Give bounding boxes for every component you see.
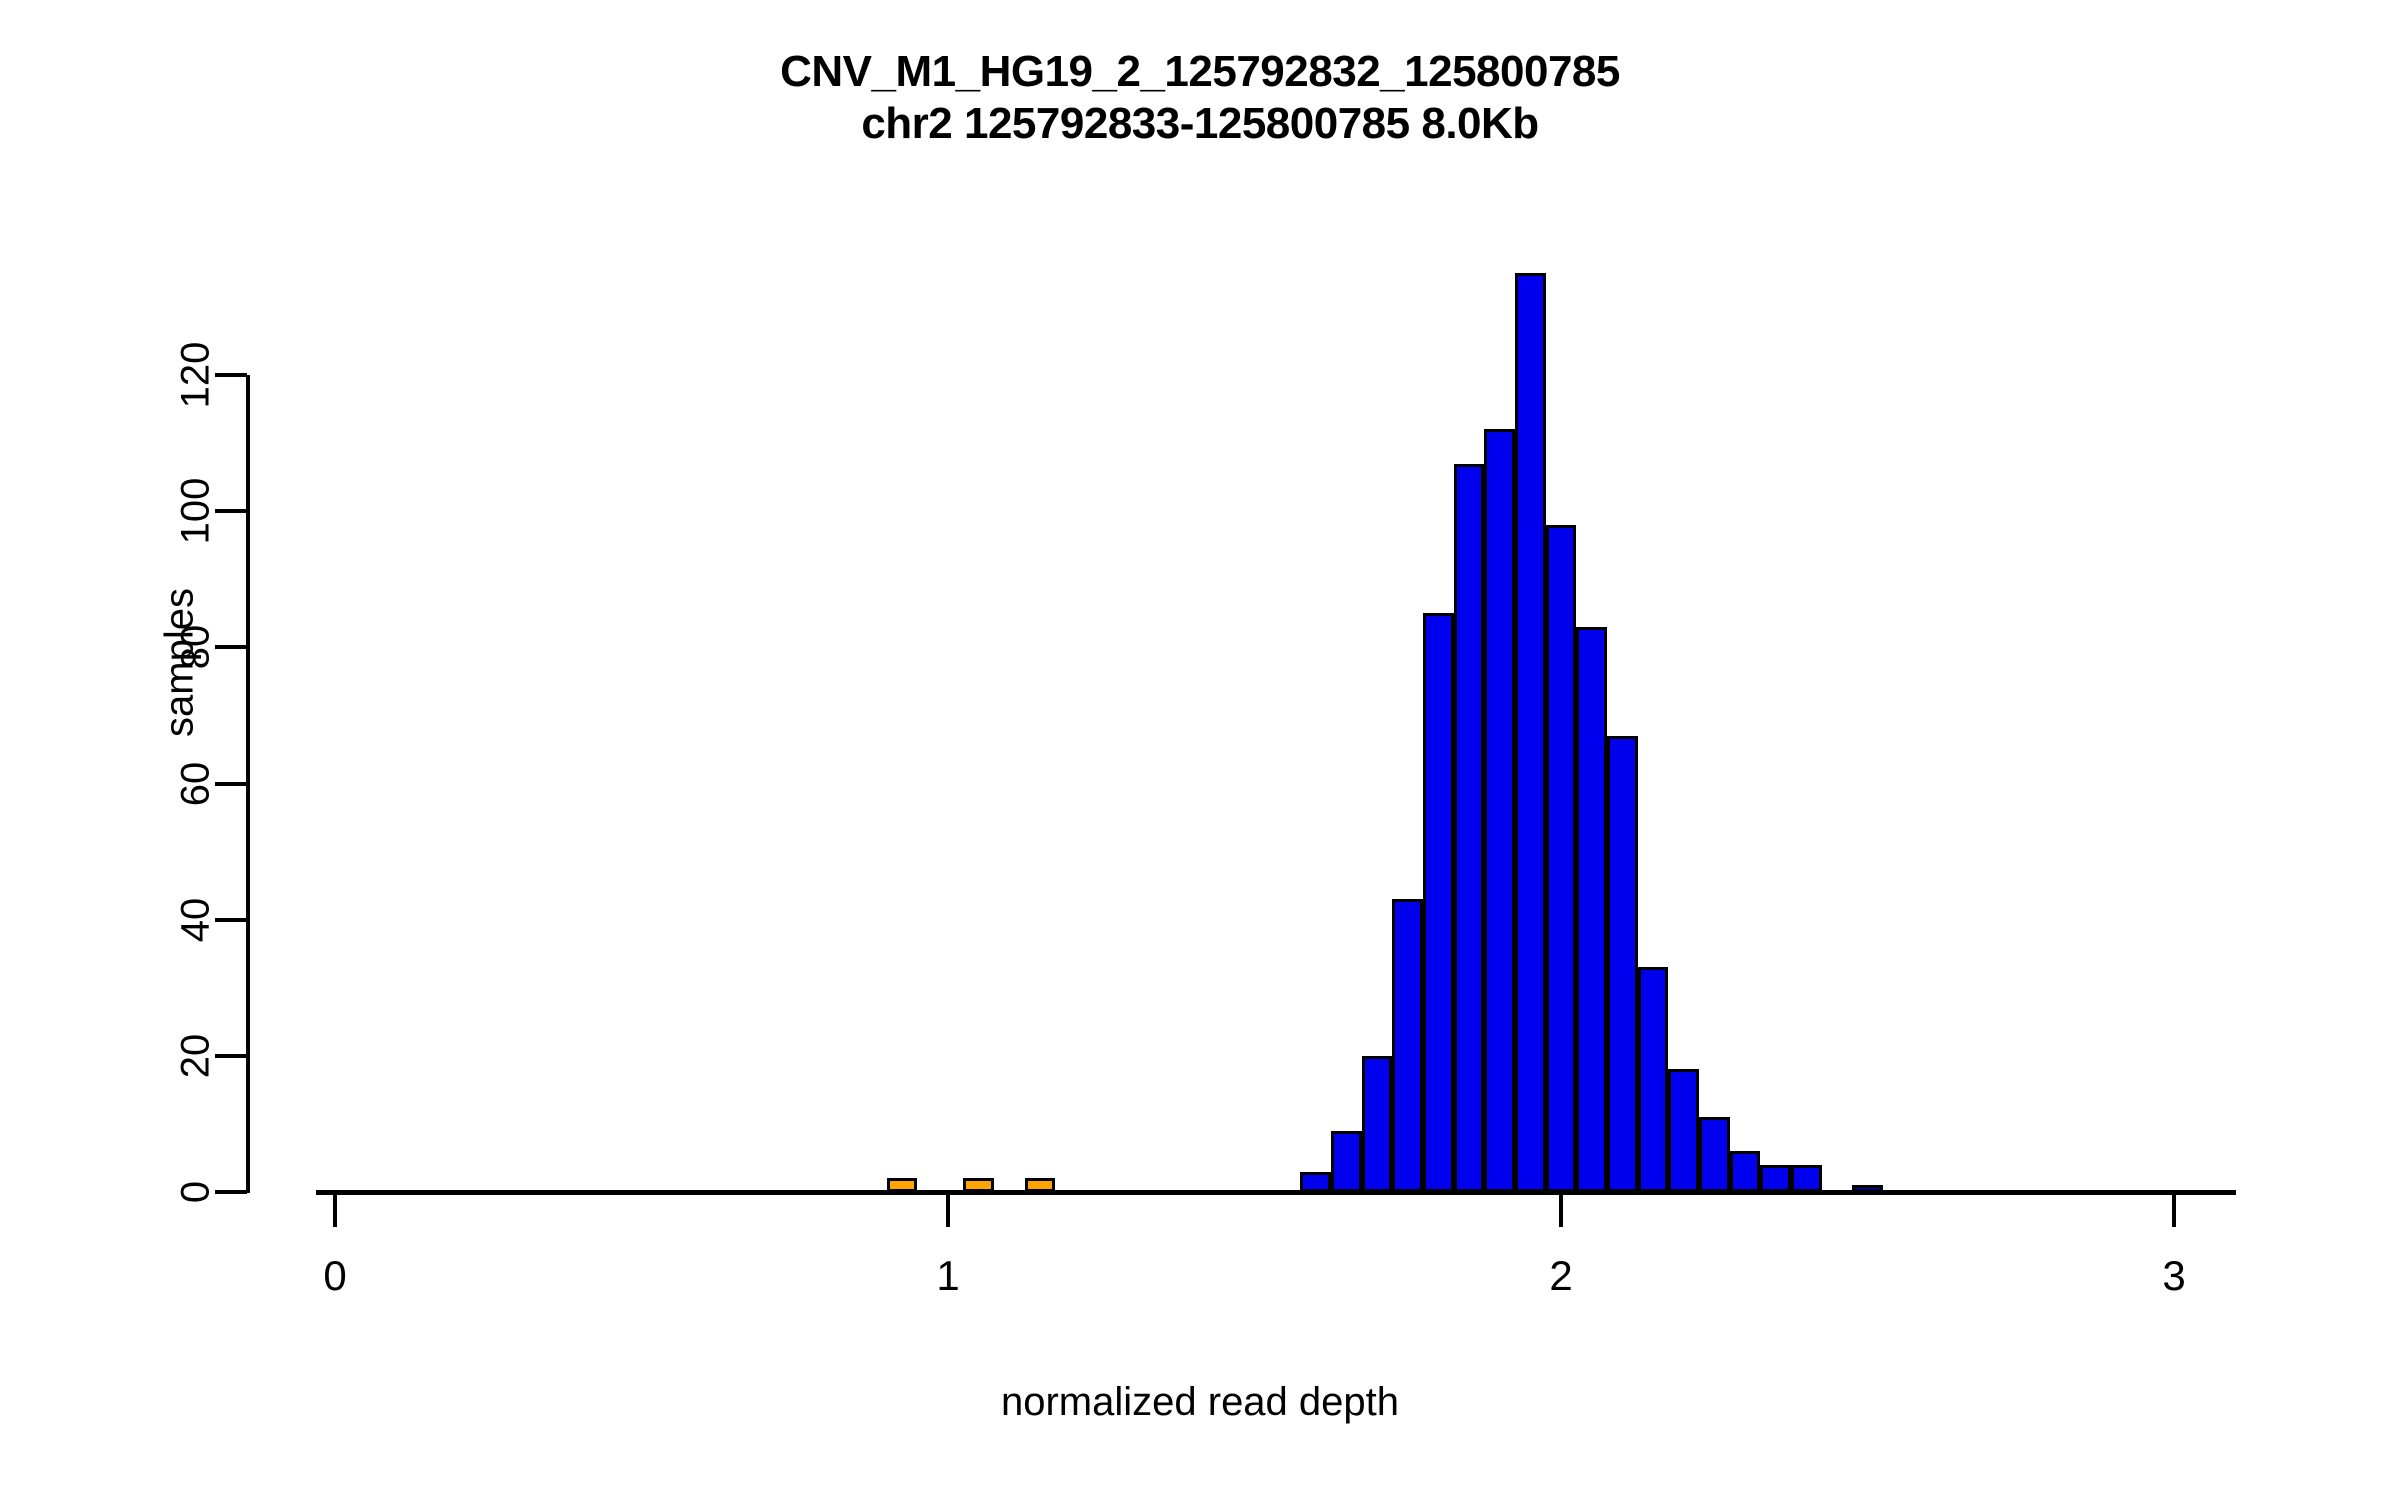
histogram-bar <box>1607 736 1638 1192</box>
histogram-bar <box>1668 1069 1699 1192</box>
x-axis-tick <box>333 1195 337 1227</box>
histogram-bar <box>1515 273 1546 1192</box>
histogram-bar <box>1300 1172 1331 1192</box>
histogram-bar <box>1760 1165 1791 1192</box>
y-axis-tick <box>215 782 247 786</box>
histogram-bar <box>1331 1131 1362 1192</box>
x-axis-tick <box>2172 1195 2176 1227</box>
histogram-bar <box>1423 613 1454 1192</box>
histogram-bar <box>1730 1151 1761 1192</box>
histogram-bar <box>1392 899 1423 1192</box>
x-axis-title: normalized read depth <box>0 1380 2400 1425</box>
chart-canvas: CNV_M1_HG19_2_125792832_125800785 chr2 1… <box>0 0 2400 1500</box>
y-axis-tick <box>215 373 247 377</box>
histogram-bar <box>1699 1117 1730 1192</box>
x-axis-tick-label: 0 <box>275 1252 395 1300</box>
y-axis-tick <box>215 1190 247 1194</box>
histogram-bar <box>1791 1165 1822 1192</box>
x-axis-line <box>316 1190 2236 1195</box>
x-axis-tick-label: 2 <box>1501 1252 1621 1300</box>
x-axis-tick-label: 1 <box>888 1252 1008 1300</box>
y-axis-tick <box>215 509 247 513</box>
histogram-bar <box>1638 967 1669 1192</box>
y-axis-tick <box>215 645 247 649</box>
y-axis-title: samples <box>158 513 203 813</box>
y-axis-tick <box>215 1054 247 1058</box>
x-axis-tick-label: 3 <box>2114 1252 2234 1300</box>
x-axis-tick <box>946 1195 950 1227</box>
x-axis-tick <box>1559 1195 1563 1227</box>
y-axis-tick <box>215 918 247 922</box>
histogram-bar <box>1484 429 1515 1192</box>
plot-area: 020406080100120 0123 normalized read dep… <box>0 0 2400 1500</box>
histogram-bar <box>1576 627 1607 1192</box>
histogram-bar <box>1546 525 1577 1192</box>
histogram-bar <box>1454 464 1485 1192</box>
histogram-bar <box>1362 1056 1393 1192</box>
